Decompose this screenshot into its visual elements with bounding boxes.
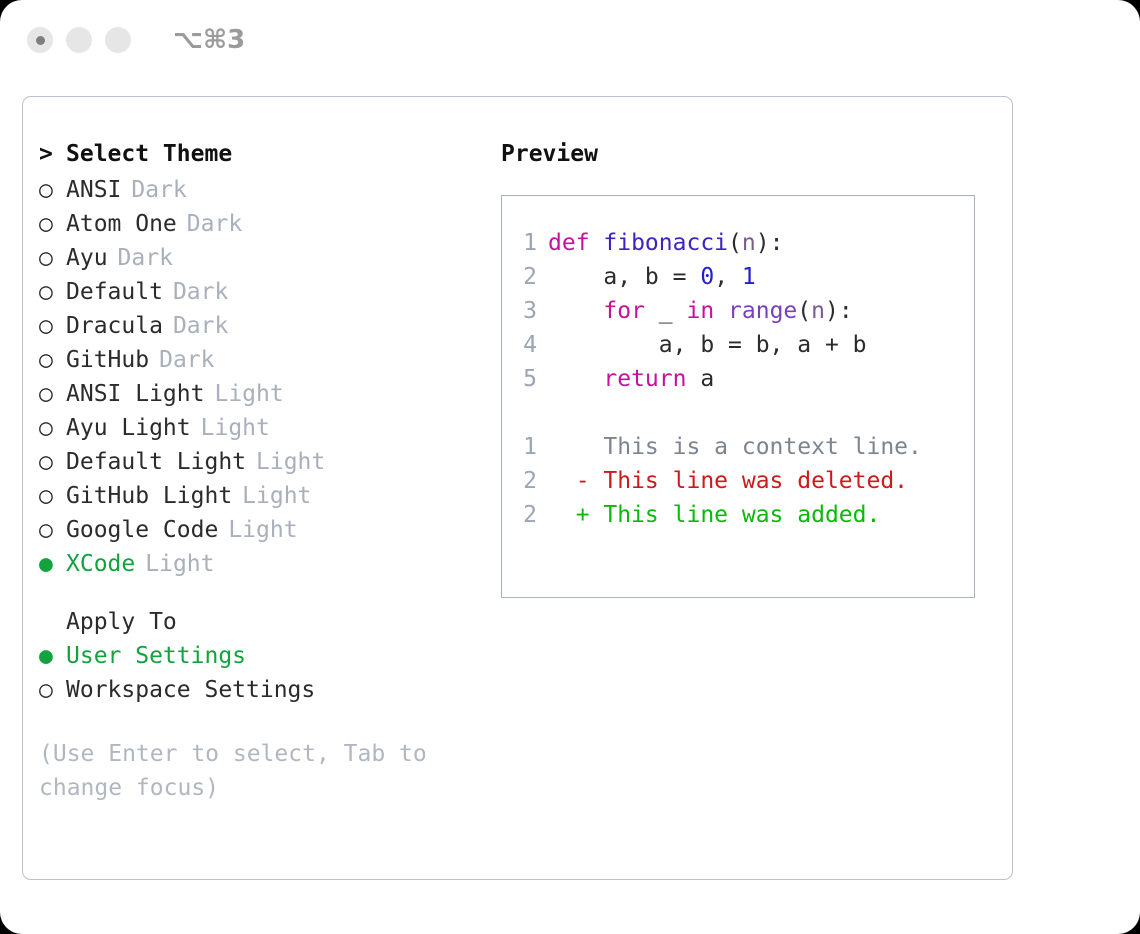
theme-name-label: Atom One [66,211,177,237]
code-token-plain [548,298,603,324]
dot-three-icon[interactable] [105,27,131,53]
code-token-plain [714,298,728,324]
radio-unselected-icon: ○ [39,485,66,508]
preview-box: 1def fibonacci(n):2 a, b = 0, 13 for _ i… [501,195,975,598]
theme-name-label: Ayu Light [66,415,191,441]
code-token-punc: ): [756,230,784,256]
code-line-number: 2 [502,264,548,290]
theme-variant-tag: Dark [187,211,242,237]
theme-variant-tag: Dark [159,347,214,373]
theme-name-label: XCode [66,551,135,577]
code-sample: 1def fibonacci(n):2 a, b = 0, 13 for _ i… [502,230,974,400]
theme-list-item[interactable]: ○Atom OneDark [39,211,469,245]
theme-list-item[interactable]: ○Google CodeLight [39,517,469,551]
code-line-text: def fibonacci(n): [548,230,783,256]
window-titlebar: ⌥⌘3 [0,0,1140,80]
diff-sign [548,434,603,460]
radio-unselected-icon: ○ [39,281,66,304]
theme-list-item[interactable]: ○GitHub LightLight [39,483,469,517]
theme-list-item[interactable]: ○DefaultDark [39,279,469,313]
radio-selected-icon: ● [39,553,66,576]
code-diff-spacer [502,400,974,434]
apply-to-option-label: User Settings [66,643,246,669]
theme-variant-tag: Light [214,381,283,407]
select-theme-heading-label: Select Theme [66,141,232,167]
theme-variant-tag: Dark [173,279,228,305]
theme-variant-tag: Dark [131,177,186,203]
apply-to-options: ●User Settings○Workspace Settings [39,643,469,711]
code-line-text: for _ in range(n): [548,298,853,324]
radio-unselected-icon: ○ [39,315,66,338]
theme-list-item[interactable]: ○AyuDark [39,245,469,279]
apply-to-option-label: Workspace Settings [66,677,315,703]
theme-variant-tag: Light [145,551,214,577]
code-token-bi: range [728,298,797,324]
radio-unselected-icon: ○ [39,417,66,440]
code-token-plain: _ [645,298,687,324]
theme-list-item[interactable]: ○ANSI LightLight [39,381,469,415]
code-line: 3 for _ in range(n): [502,298,974,332]
radio-unselected-icon: ○ [39,519,66,542]
preview-title: Preview [501,141,991,177]
theme-name-label: ANSI [66,177,121,203]
code-line: 5 return a [502,366,974,400]
code-token-kw: for [603,298,645,324]
diff-sample: 1 This is a context line.2 - This line w… [502,434,974,536]
select-theme-heading: > Select Theme [39,141,469,177]
theme-list: ○ANSIDark○Atom OneDark○AyuDark○DefaultDa… [39,177,469,585]
apply-to-option[interactable]: ○Workspace Settings [39,677,469,711]
code-token-num: 0 [700,264,714,290]
apply-to-heading: Apply To [39,609,469,643]
keyboard-shortcut-label: ⌥⌘3 [173,25,245,55]
theme-name-label: Google Code [66,517,218,543]
diff-line-text: This line was deleted. [603,468,908,494]
theme-name-label: Default [66,279,163,305]
diff-line-number: 2 [502,468,548,494]
code-token-punc: ): [825,298,853,324]
code-token-plain: a [686,366,714,392]
code-token-prm: n [811,298,825,324]
theme-name-label: GitHub Light [66,483,232,509]
code-token-plain: , [714,264,742,290]
theme-variant-tag: Dark [173,313,228,339]
radio-selected-icon: ● [39,645,66,668]
diff-line-number: 2 [502,502,548,528]
code-line-number: 4 [502,332,548,358]
app-window: ⌥⌘3 > Select Theme ○ANSIDark○Atom OneDar… [0,0,1140,934]
apply-to-option[interactable]: ●User Settings [39,643,469,677]
code-line-number: 1 [502,230,548,256]
keyboard-hint: (Use Enter to select, Tab to change focu… [39,737,449,805]
theme-list-item[interactable]: ○DraculaDark [39,313,469,347]
window-controls [27,27,131,53]
code-line: 2 a, b = 0, 1 [502,264,974,298]
code-token-fn: fibonacci [603,230,728,256]
code-token-punc: ( [797,298,811,324]
code-token-prm: n [742,230,756,256]
diff-line: 2 - This line was deleted. [502,468,974,502]
diff-sign: + [548,502,603,528]
theme-variant-tag: Light [242,483,311,509]
apply-to-label: Apply To [66,609,177,635]
record-dot-icon[interactable] [27,27,53,53]
theme-name-label: Dracula [66,313,163,339]
code-line: 1def fibonacci(n): [502,230,974,264]
radio-unselected-icon: ○ [39,247,66,270]
theme-name-label: Default Light [66,449,246,475]
theme-selector-column: > Select Theme ○ANSIDark○Atom OneDark○Ay… [39,141,469,805]
theme-variant-tag: Light [228,517,297,543]
main-panel: > Select Theme ○ANSIDark○Atom OneDark○Ay… [22,96,1013,880]
theme-list-item[interactable]: ○Default LightLight [39,449,469,483]
theme-name-label: GitHub [66,347,149,373]
dot-two-icon[interactable] [66,27,92,53]
radio-unselected-icon: ○ [39,349,66,372]
code-token-plain: a, b = [548,264,700,290]
theme-list-item[interactable]: ○GitHubDark [39,347,469,381]
theme-variant-tag: Light [256,449,325,475]
theme-list-item[interactable]: ○Ayu LightLight [39,415,469,449]
theme-name-label: ANSI Light [66,381,204,407]
radio-unselected-icon: ○ [39,679,66,702]
theme-list-item[interactable]: ●XCodeLight [39,551,469,585]
code-line-text: return a [548,366,714,392]
code-token-num: 1 [742,264,756,290]
code-line-number: 5 [502,366,548,392]
code-token-plain: a, b = b, a + b [548,332,867,358]
radio-unselected-icon: ○ [39,179,66,202]
diff-sign: - [548,468,603,494]
code-line: 4 a, b = b, a + b [502,332,974,366]
code-line-number: 3 [502,298,548,324]
theme-variant-tag: Dark [118,245,173,271]
diff-line-text: This line was added. [603,502,880,528]
code-token-punc: ( [728,230,742,256]
code-token-kw: in [686,298,714,324]
radio-unselected-icon: ○ [39,383,66,406]
radio-unselected-icon: ○ [39,451,66,474]
diff-line: 2 + This line was added. [502,502,974,536]
code-token-plain [548,366,603,392]
diff-line: 1 This is a context line. [502,434,974,468]
theme-name-label: Ayu [66,245,108,271]
diff-line-text: This is a context line. [603,434,922,460]
code-line-text: a, b = b, a + b [548,332,867,358]
diff-line-number: 1 [502,434,548,460]
record-dot-inner [36,36,45,45]
theme-list-item[interactable]: ○ANSIDark [39,177,469,211]
theme-variant-tag: Light [201,415,270,441]
code-line-text: a, b = 0, 1 [548,264,756,290]
code-token-kw: def [548,230,603,256]
caret-icon: > [39,143,66,166]
radio-unselected-icon: ○ [39,213,66,236]
preview-column: Preview 1def fibonacci(n):2 a, b = 0, 13… [501,141,991,598]
code-token-kw: return [603,366,686,392]
